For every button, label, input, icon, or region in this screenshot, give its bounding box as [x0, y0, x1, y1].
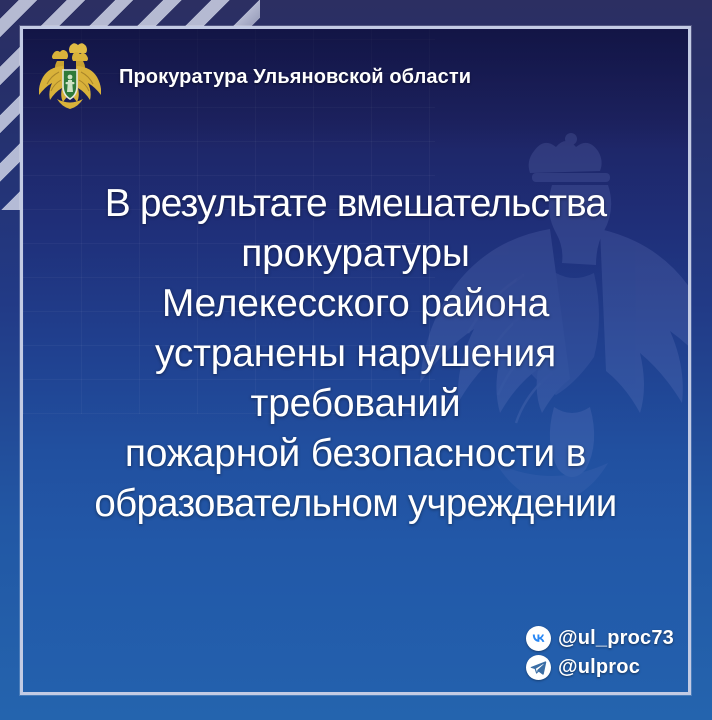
- vk-icon[interactable]: [526, 626, 551, 651]
- social-row-telegram[interactable]: @ulproc: [526, 655, 640, 680]
- telegram-handle[interactable]: @ulproc: [558, 656, 640, 679]
- headline-line-5: требований: [25, 379, 686, 429]
- headline-line-3: Мелекесского района: [25, 279, 686, 329]
- social-links: @ul_proc73 @ulproc: [526, 626, 674, 680]
- header-title: Прокуратура Ульяновской области: [119, 66, 471, 89]
- social-row-vk[interactable]: @ul_proc73: [526, 626, 674, 651]
- vk-handle[interactable]: @ul_proc73: [558, 627, 674, 650]
- header: Прокуратура Ульяновской области: [23, 29, 688, 125]
- headline-line-6: пожарной безопасности в: [25, 429, 686, 479]
- telegram-icon[interactable]: [526, 655, 551, 680]
- headline-line-2: прокуратуры: [25, 229, 686, 279]
- headline-line-7: образовательном учреждении: [25, 479, 686, 529]
- headline-line-1: В результате вмешательства: [25, 179, 686, 229]
- headline: В результате вмешательства прокуратуры М…: [23, 179, 688, 529]
- headline-line-4: устранены нарушения: [25, 329, 686, 379]
- double-headed-eagle-emblem-icon: [39, 42, 101, 112]
- poster-frame: Прокуратура Ульяновской области В резуль…: [20, 26, 691, 695]
- poster: Прокуратура Ульяновской области В резуль…: [0, 0, 712, 720]
